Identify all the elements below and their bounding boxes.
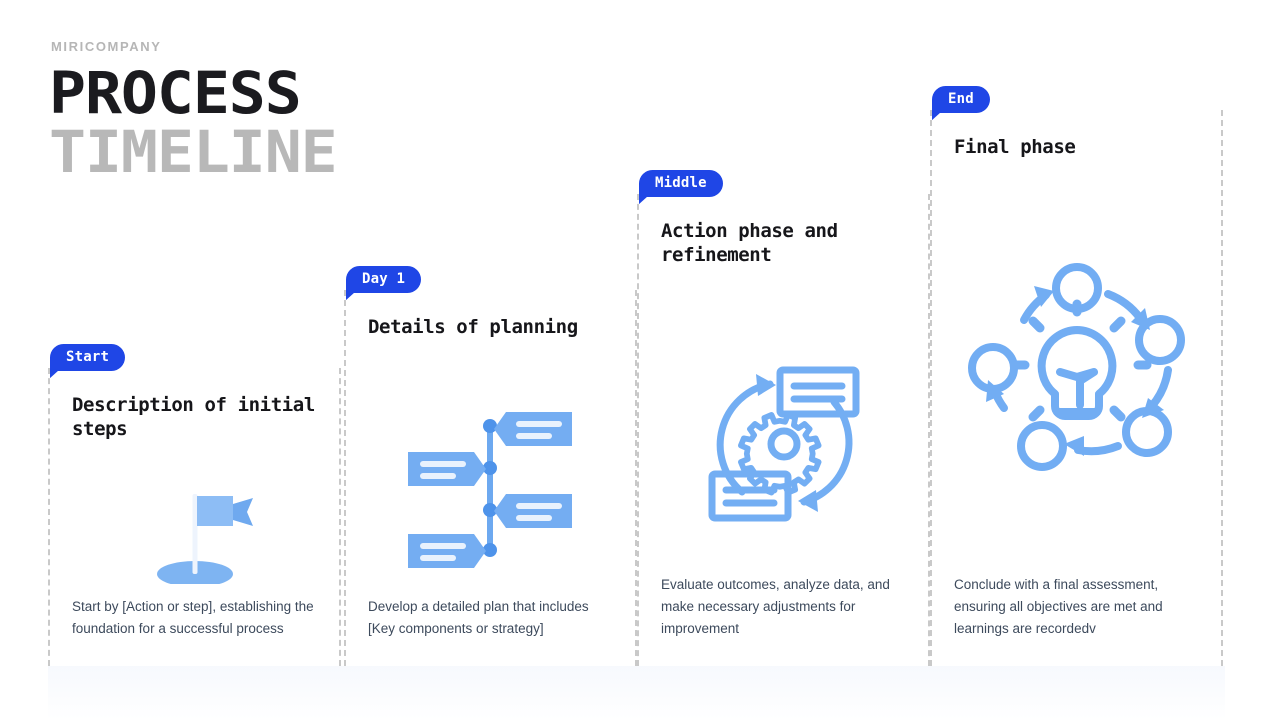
card-title: Details of planning (368, 316, 613, 340)
card-badge-end[interactable]: End (932, 86, 990, 113)
card-title: Action phase and refinement (661, 220, 906, 267)
slide-header: MIRICOMPANY PROCESS TIMELINE (49, 40, 320, 180)
gear-cycle-icon (639, 344, 928, 544)
card-badge-middle[interactable]: Middle (639, 170, 723, 197)
card-title: Final phase (954, 136, 1199, 160)
roadmap-icon (346, 410, 635, 570)
card-badge-day1[interactable]: Day 1 (346, 266, 421, 293)
card-badge-start[interactable]: Start (50, 344, 125, 371)
timeline-card-1[interactable]: Start Description of initial steps Start… (48, 368, 341, 666)
card-title: Description of initial steps (72, 394, 317, 441)
timeline-card-2[interactable]: Day 1 Details of planning (344, 290, 637, 666)
flag-icon (50, 464, 339, 584)
lightbulb-network-icon (932, 260, 1221, 475)
card-description: Conclude with a final assessment, ensuri… (954, 574, 1201, 640)
timeline-card-4[interactable]: End Final phase (930, 110, 1223, 666)
slide-canvas: MIRICOMPANY PROCESS TIMELINE Start Descr… (0, 0, 1280, 720)
timeline-card-3[interactable]: Middle Action phase and refinement Evalu… (637, 194, 930, 666)
card-description: Evaluate outcomes, analyze data, and mak… (661, 574, 908, 640)
page-title-line2: TIMELINE (49, 126, 337, 179)
base-strip (48, 666, 1225, 720)
page-title-line1: PROCESS (49, 67, 337, 120)
company-name: MIRICOMPANY (51, 40, 320, 53)
card-description: Start by [Action or step], establishing … (72, 596, 319, 640)
card-description: Develop a detailed plan that includes [K… (368, 596, 615, 640)
